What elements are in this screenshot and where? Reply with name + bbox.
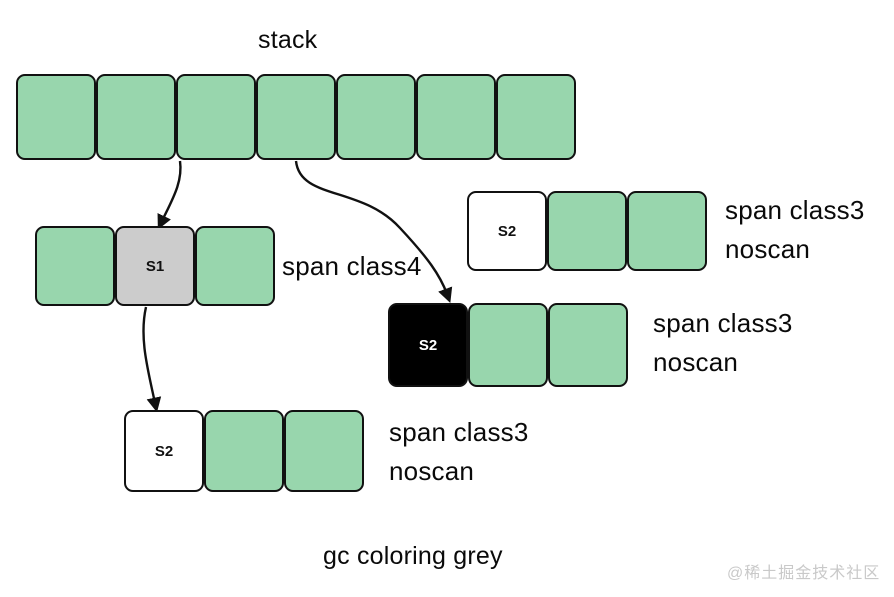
cell-span-class3-bottom-2 [284,410,364,492]
cell-stack-1 [96,74,176,160]
cell-stack-3 [256,74,336,160]
cell-stack-5 [416,74,496,160]
cell-label: S1 [146,258,164,275]
cell-stack-6 [496,74,576,160]
cell-span-class4-2 [195,226,275,306]
annotation-line-1: span class3 [389,419,529,445]
cell-span-class3-mid-2 [548,303,628,387]
watermark: @稀土掘金技术社区 [727,559,880,583]
diagram-caption: gc coloring grey [323,544,503,569]
arrow-s1-to-white-s2 [143,307,155,403]
diagram-canvas: stack S1S2S2S2 span class4span class3nos… [0,0,894,597]
cell-stack-4 [336,74,416,160]
annotation-span-class3-bottom: span class3noscan [389,419,529,484]
cell-span-class3-mid-0: S2 [388,303,468,387]
annotation-line-1: span class4 [282,253,422,279]
cell-span-class4-0 [35,226,115,306]
annotation-span-class4: span class4 [282,253,422,279]
annotation-line-1: span class3 [725,197,865,223]
cell-span-class3-top-1 [547,191,627,271]
annotation-line-1: span class3 [653,310,793,336]
page-title: stack [258,28,317,53]
annotation-line-2: noscan [725,236,865,262]
annotation-span-class3-top: span class3noscan [725,197,865,262]
cell-span-class4-1: S1 [115,226,195,306]
cell-stack-0 [16,74,96,160]
cell-span-class3-bottom-1 [204,410,284,492]
cell-label: S2 [419,337,437,354]
annotation-line-2: noscan [389,458,529,484]
cell-stack-2 [176,74,256,160]
cell-span-class3-top-0: S2 [467,191,547,271]
annotation-line-2: noscan [653,349,793,375]
cell-label: S2 [498,223,516,240]
cell-span-class3-bottom-0: S2 [124,410,204,492]
arrow-stack-to-s1 [162,161,181,221]
cell-span-class3-mid-1 [468,303,548,387]
cell-span-class3-top-2 [627,191,707,271]
cell-label: S2 [155,443,173,460]
annotation-span-class3-mid: span class3noscan [653,310,793,375]
